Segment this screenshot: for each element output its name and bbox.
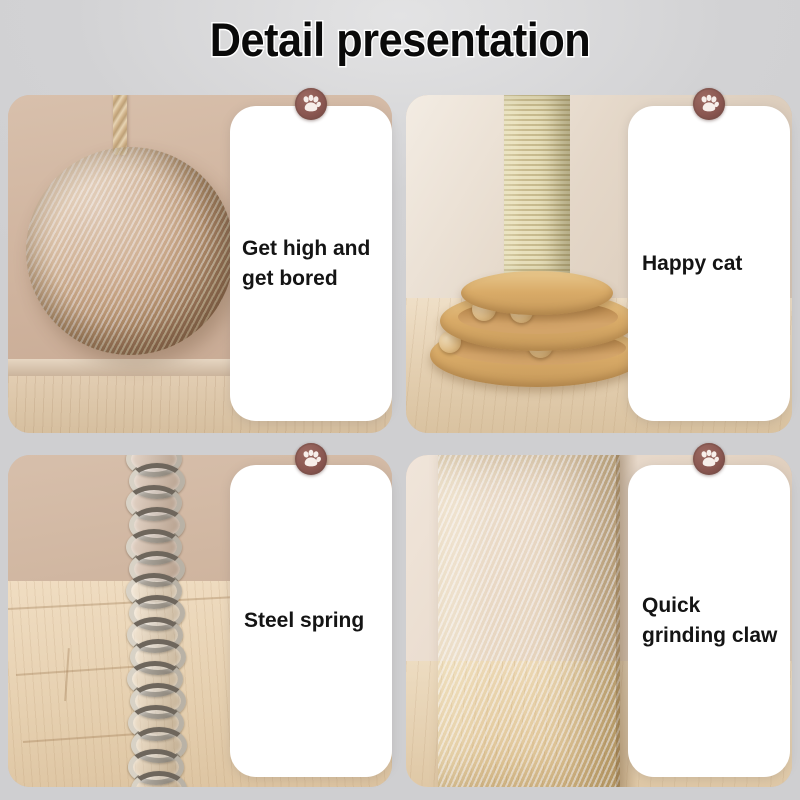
sisal-rope-column <box>438 455 620 787</box>
sisal-rope-ball <box>26 147 234 355</box>
page-title: Detail presentation <box>32 14 768 66</box>
paw-icon <box>295 443 327 475</box>
sisal-scratching-post <box>504 95 570 281</box>
hanging-rope <box>113 95 127 155</box>
paw-icon <box>693 443 725 475</box>
paw-icon <box>295 88 327 120</box>
detail-presentation-page: Detail presentation <box>0 0 800 800</box>
caption-text: Quick grinding claw <box>628 591 790 651</box>
caption-card-scratching-post[interactable]: Happy cat <box>628 106 790 421</box>
paw-icon <box>693 88 725 120</box>
caption-card-steel-spring[interactable]: Steel spring <box>230 465 392 777</box>
steel-coil-spring <box>124 455 176 787</box>
caption-card-sisal-rope[interactable]: Quick grinding claw <box>628 465 790 777</box>
caption-card-rope-ball[interactable]: Get high and get bored <box>230 106 392 421</box>
caption-text: Happy cat <box>628 249 790 279</box>
caption-text: Get high and get bored <box>230 234 392 294</box>
caption-text: Steel spring <box>230 606 392 636</box>
wooden-platform-top <box>461 271 613 315</box>
